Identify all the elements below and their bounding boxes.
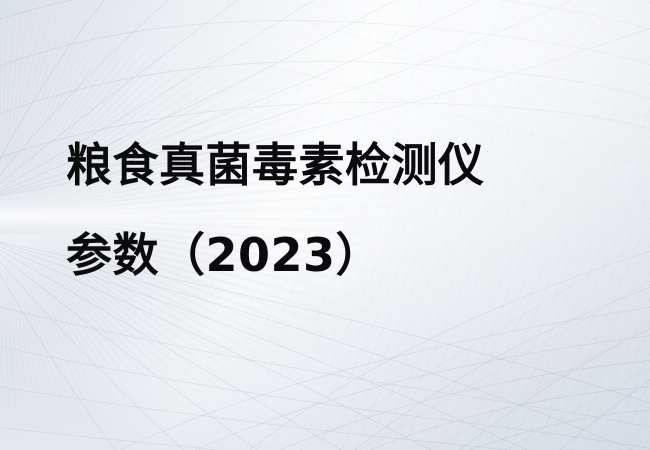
title-line-secondary: 参数（2023） [66,232,485,278]
title-banner: 粮食真菌毒素检测仪 参数（2023） [0,0,650,450]
title-line-primary: 粮食真菌毒素检测仪 [66,142,485,188]
title-block: 粮食真菌毒素检测仪 参数（2023） [66,142,485,278]
